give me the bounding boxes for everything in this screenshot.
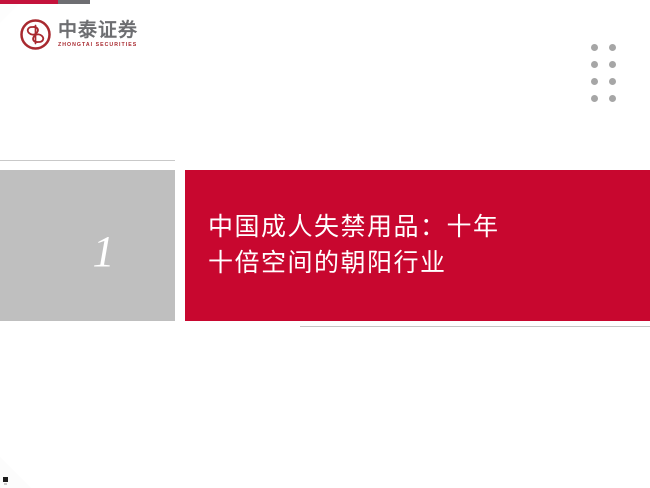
zhongtai-circular-emblem-icon — [20, 19, 51, 50]
grid-dot — [591, 95, 598, 102]
corner-accent-bar — [0, 0, 90, 4]
section-title: 中国成人失禁用品：十年 十倍空间的朝阳行业 — [185, 209, 520, 280]
brand-name-en: ZHONGTAI SECURITIES — [58, 43, 138, 48]
grid-dot — [591, 78, 598, 85]
brand-name-cn: 中泰证券 — [58, 21, 138, 40]
grid-dot — [609, 95, 616, 102]
grid-dot — [609, 61, 616, 68]
footer-marker-shadow — [4, 483, 7, 485]
brand-logo: 中泰证券 ZHONGTAI SECURITIES — [20, 19, 138, 50]
dot-grid-decoration-icon — [591, 44, 616, 102]
grid-dot — [591, 61, 598, 68]
divider-rule-top — [0, 160, 175, 161]
grid-dot — [609, 78, 616, 85]
section-title-banner: 中国成人失禁用品：十年 十倍空间的朝阳行业 — [185, 170, 650, 321]
section-number-box: 1 — [0, 170, 175, 321]
brand-logo-text: 中泰证券 ZHONGTAI SECURITIES — [58, 21, 138, 48]
section-number: 1 — [93, 226, 115, 277]
divider-rule-bottom — [300, 326, 650, 327]
corner-accent-red-segment — [0, 0, 58, 4]
presentation-slide: 中泰证券 ZHONGTAI SECURITIES 1 中国成人失禁用品：十年 十… — [0, 0, 650, 488]
footer-marker — [3, 477, 8, 482]
grid-dot — [591, 44, 598, 51]
corner-accent-gray-segment — [58, 0, 90, 4]
grid-dot — [609, 44, 616, 51]
